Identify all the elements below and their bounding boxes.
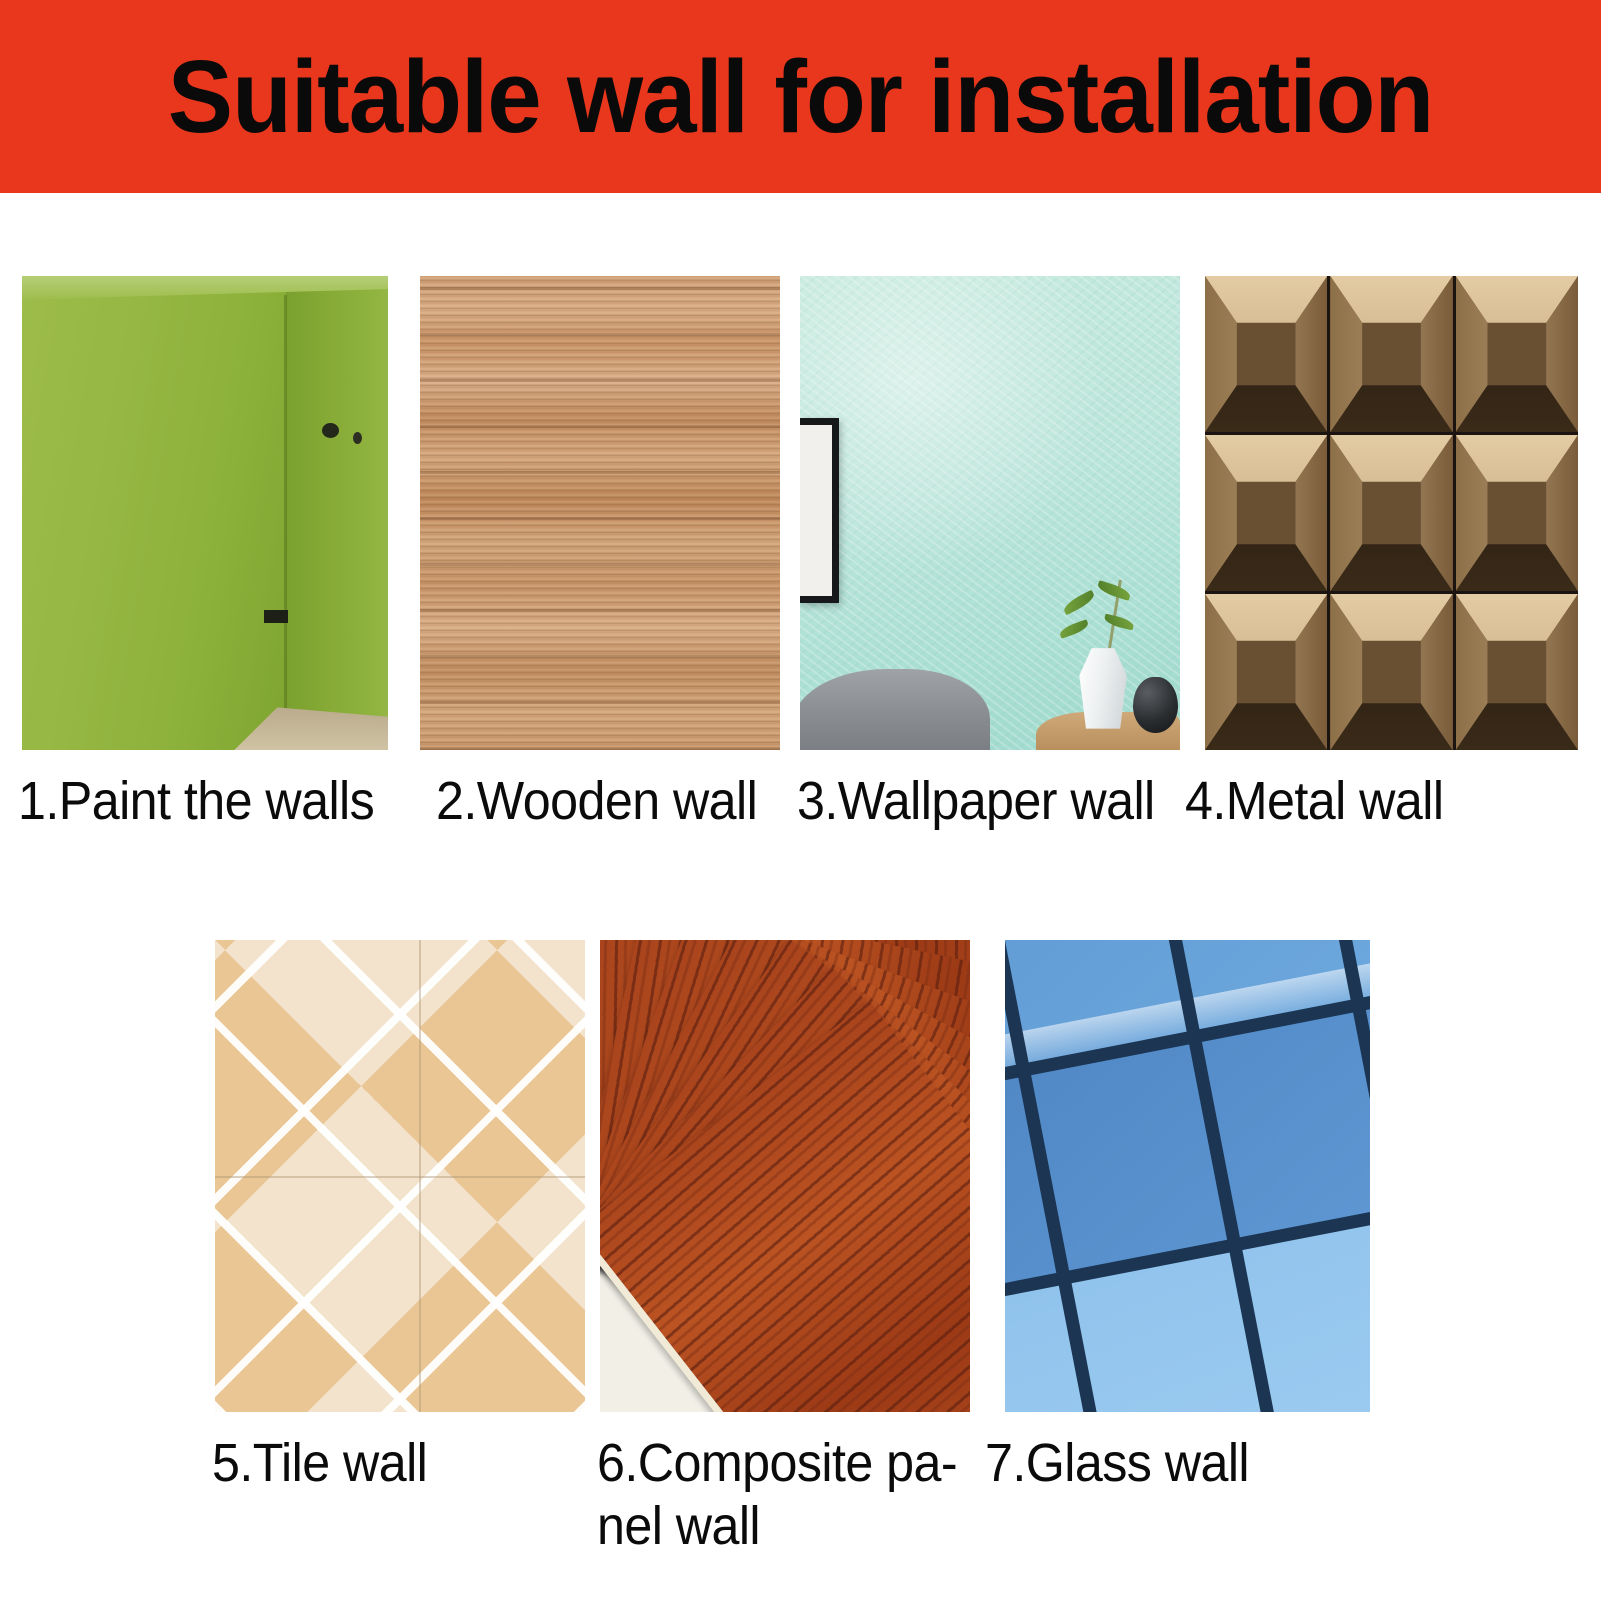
leaf-icon [1096,580,1132,601]
mint-wallpaper-image [800,276,1180,750]
picture-frame [800,418,839,603]
metal-panel-tile [1205,435,1327,591]
caption-tile-wall: 5.Tile wall [212,1432,565,1495]
thumbnail-paint-the-walls [22,276,388,750]
thumbnail-composite-panel-wall [600,940,970,1412]
caption-wallpaper-wall: 3.Wallpaper wall [797,770,1169,833]
wood-grain-image [420,276,780,750]
metal-panel-tile [1205,594,1327,750]
metal-panel-tile [1330,276,1452,432]
green-painted-room-image [22,276,388,750]
thumbnail-wallpaper-wall [800,276,1180,750]
metal-panel-tile [1456,435,1578,591]
wall-hole-icon [322,423,339,438]
page-title: Suitable wall for installation [40,0,1561,193]
metal-panel-tile [1330,435,1452,591]
tile-seam [215,1176,585,1178]
leaf-icon [1104,613,1136,630]
composite-panels-image [600,940,970,1412]
paint-left-wall [22,276,286,750]
thumbnail-glass-wall [1005,940,1370,1412]
metal-panel-tile [1205,276,1327,432]
caption-wooden-wall: 2.Wooden wall [436,770,789,833]
paint-right-wall [286,276,388,750]
header-banner: Suitable wall for installation [0,0,1601,193]
metal-panel-tile [1330,594,1452,750]
caption-metal-wall: 4.Metal wall [1185,770,1557,833]
wall-outlet-mark [264,610,288,623]
gray-sofa [800,669,990,750]
thumbnail-wooden-wall [420,276,780,750]
ceramic-tile-image [215,940,585,1412]
black-vase [1133,677,1179,734]
caption-paint-the-walls: 1.Paint the walls [18,770,390,833]
leaf-icon [1058,619,1090,639]
glass-curtain-wall-image [1005,940,1370,1412]
glass-grid [1005,940,1370,1412]
white-faceted-vase [1079,648,1127,729]
caption-glass-wall: 7.Glass wall [985,1432,1338,1495]
bronze-metal-panels-image [1205,276,1578,750]
thumbnail-metal-wall [1205,276,1578,750]
metal-panel-tile [1456,276,1578,432]
caption-composite-panel-wall: 6.Composite pa- nel wall [597,1432,960,1558]
paint-corner-seam [284,295,287,731]
thumbnail-tile-wall [215,940,585,1412]
metal-panel-tile [1456,594,1578,750]
leaf-icon [1062,589,1097,615]
